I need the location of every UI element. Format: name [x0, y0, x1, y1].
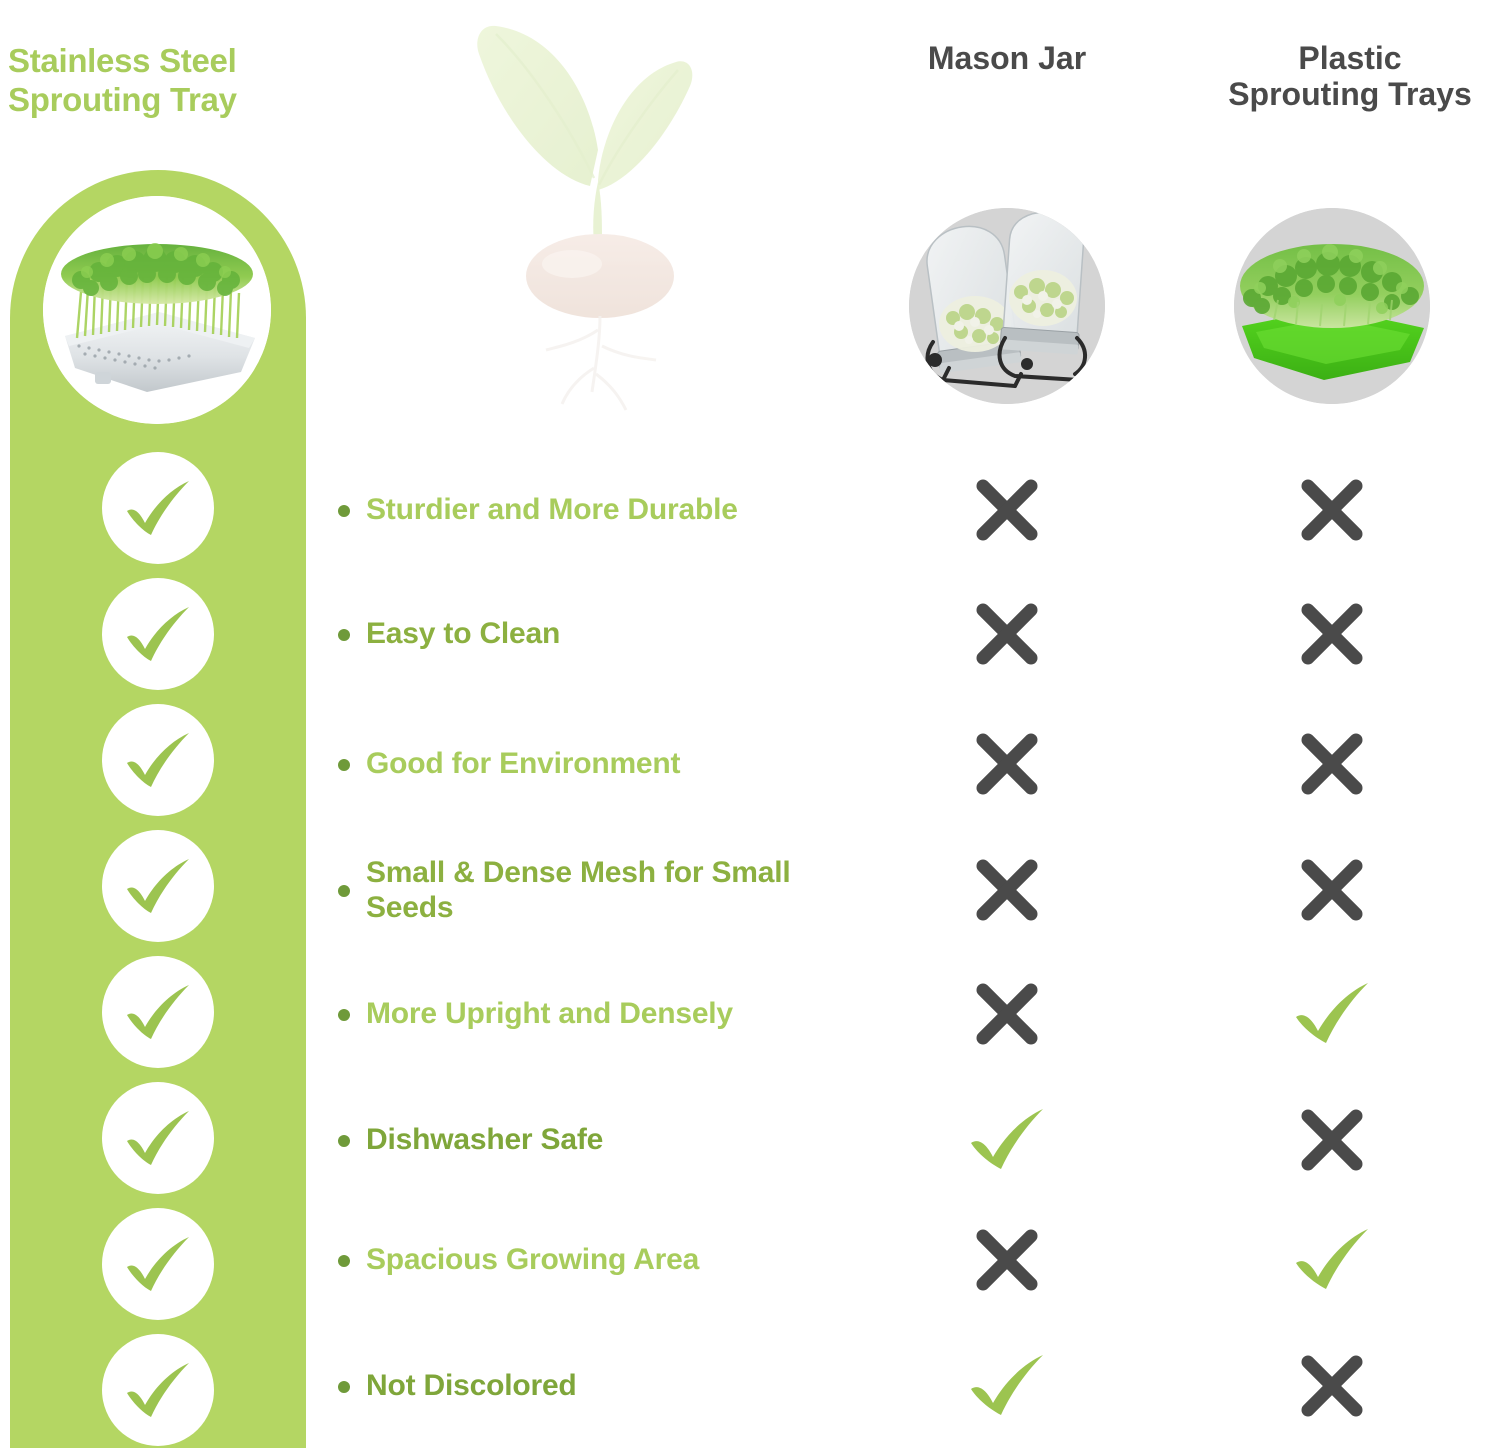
column-header-plastic-trays: Plastic Sprouting Trays	[1202, 40, 1498, 113]
mark-cross-icon	[942, 446, 1072, 574]
column-header-mason-jar: Mason Jar	[877, 40, 1137, 76]
mark-cross-icon	[942, 1196, 1072, 1324]
feature-label-cell: Spacious Growing Area	[338, 1196, 898, 1324]
page-title: Stainless Steel Sprouting Tray	[8, 42, 338, 120]
feature-label-cell: Dishwasher Safe	[338, 1076, 898, 1204]
feature-label: Small & Dense Mesh for Small Seeds	[366, 855, 866, 926]
mark-cross-icon	[1267, 826, 1397, 954]
bullet-icon	[338, 885, 350, 897]
bullet-icon	[338, 629, 350, 641]
feature-label: Spacious Growing Area	[366, 1242, 699, 1277]
feature-label-cell: Small & Dense Mesh for Small Seeds	[338, 826, 898, 954]
mark-cross-icon	[942, 950, 1072, 1078]
mark-cross-icon	[1267, 446, 1397, 574]
mark-check-icon	[1267, 1196, 1397, 1324]
bullet-icon	[338, 1255, 350, 1267]
table-row: Dishwasher Safe	[0, 1076, 1500, 1204]
mark-check-icon	[1267, 950, 1397, 1078]
bullet-icon	[338, 505, 350, 517]
mark-cross-icon	[942, 700, 1072, 828]
table-row: Sturdier and More Durable	[0, 446, 1500, 574]
mark-check-icon	[942, 1076, 1072, 1204]
table-row: More Upright and Densely	[0, 950, 1500, 1078]
feature-label: Easy to Clean	[366, 616, 560, 651]
page-title-line-2: Sprouting Tray	[8, 81, 338, 120]
feature-label-cell: Not Discolored	[338, 1322, 898, 1450]
bullet-icon	[338, 1381, 350, 1393]
table-row: Easy to Clean	[0, 570, 1500, 698]
feature-label: Dishwasher Safe	[366, 1122, 603, 1157]
comparison-table: Sturdier and More Durable Easy to Clean …	[0, 0, 1500, 1448]
column-header-plastic-trays-line-2: Sprouting Trays	[1202, 76, 1498, 112]
mark-cross-icon	[1267, 700, 1397, 828]
page-title-line-1: Stainless Steel	[8, 42, 338, 81]
mark-check-icon	[942, 1322, 1072, 1450]
mark-cross-icon	[942, 570, 1072, 698]
column-header-plastic-trays-line-1: Plastic	[1202, 40, 1498, 76]
feature-label-cell: Easy to Clean	[338, 570, 898, 698]
feature-label: Sturdier and More Durable	[366, 492, 738, 527]
table-row: Spacious Growing Area	[0, 1196, 1500, 1324]
feature-label: Not Discolored	[366, 1368, 577, 1403]
table-row: Good for Environment	[0, 700, 1500, 828]
mark-cross-icon	[1267, 1322, 1397, 1450]
table-row: Not Discolored	[0, 1322, 1500, 1450]
table-row: Small & Dense Mesh for Small Seeds	[0, 826, 1500, 954]
bullet-icon	[338, 1009, 350, 1021]
bullet-icon	[338, 759, 350, 771]
feature-label: More Upright and Densely	[366, 996, 733, 1031]
bullet-icon	[338, 1135, 350, 1147]
feature-label: Good for Environment	[366, 746, 680, 781]
feature-label-cell: More Upright and Densely	[338, 950, 898, 1078]
mark-cross-icon	[1267, 1076, 1397, 1204]
column-header-mason-jar-line-1: Mason Jar	[877, 40, 1137, 76]
mark-cross-icon	[1267, 570, 1397, 698]
feature-label-cell: Good for Environment	[338, 700, 898, 828]
feature-label-cell: Sturdier and More Durable	[338, 446, 898, 574]
mark-cross-icon	[942, 826, 1072, 954]
